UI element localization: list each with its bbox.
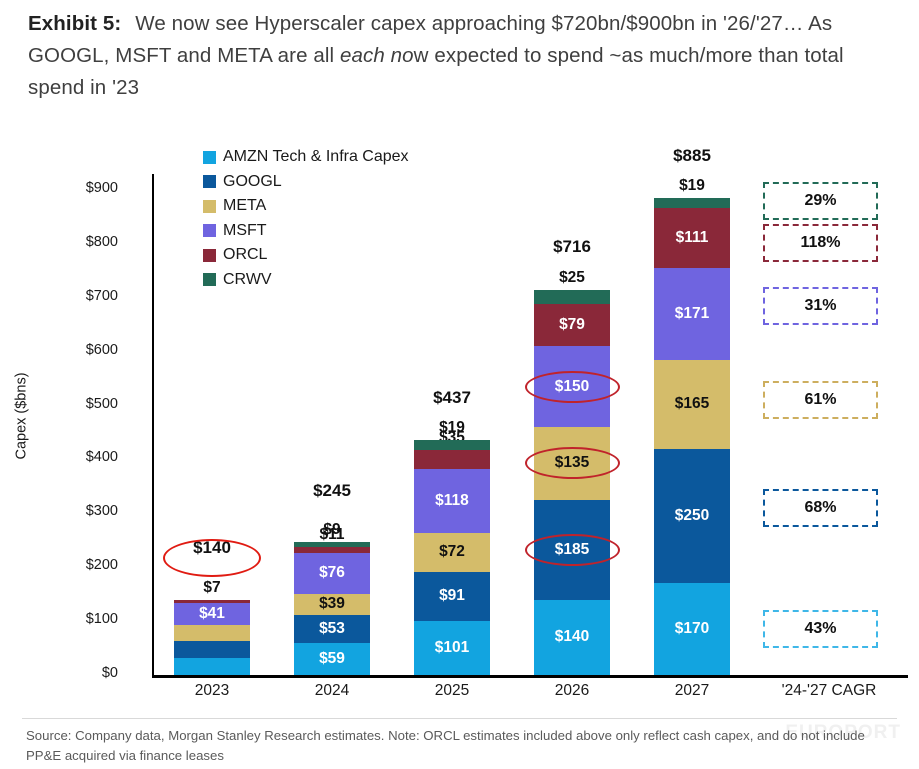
bar-segment-2026-MSFT: $150 bbox=[534, 346, 610, 427]
segment-value-label: $91 bbox=[439, 587, 465, 605]
x-axis-label-2024: 2024 bbox=[272, 682, 392, 700]
legend-swatch-icon bbox=[203, 224, 216, 237]
legend-swatch-icon bbox=[203, 175, 216, 188]
x-axis-line bbox=[152, 675, 908, 678]
bar-segment-2023-GOOGL bbox=[174, 641, 250, 658]
y-tick-label: $700 bbox=[52, 288, 118, 304]
cagr-value: 118% bbox=[800, 234, 840, 252]
y-tick-label: $100 bbox=[52, 611, 118, 627]
bar-segment-2024-ORCL bbox=[294, 547, 370, 553]
bar-segment-2027-AMZN: $170 bbox=[654, 583, 730, 675]
bar-segment-2027-META: $165 bbox=[654, 360, 730, 449]
bar-segment-2027-CRWV bbox=[654, 198, 730, 208]
segment-value-label-outside: $7 bbox=[203, 579, 220, 597]
cagr-box-meta: 61% bbox=[763, 381, 878, 419]
bar-segment-2027-ORCL: $111 bbox=[654, 208, 730, 268]
segment-value-label: $171 bbox=[675, 305, 709, 323]
segment-value-label: $59 bbox=[319, 650, 345, 668]
x-axis-label-2023: 2023 bbox=[152, 682, 272, 700]
legend-item-crwv[interactable]: CRWV bbox=[203, 268, 409, 293]
segment-value-label: $150 bbox=[555, 378, 589, 396]
legend-label: AMZN Tech & Infra Capex bbox=[223, 148, 409, 166]
y-tick-label: $600 bbox=[52, 342, 118, 358]
bar-segment-2024-AMZN: $59 bbox=[294, 643, 370, 675]
segment-value-label: $185 bbox=[555, 541, 589, 559]
legend-item-orcl[interactable]: ORCL bbox=[203, 243, 409, 268]
bar-total-label-2023: $140 bbox=[193, 538, 231, 558]
cagr-box-orcl: 118% bbox=[763, 224, 878, 262]
x-axis-label-2027: 2027 bbox=[632, 682, 752, 700]
segment-value-label: $53 bbox=[319, 620, 345, 638]
bar-segment-2026-ORCL: $79 bbox=[534, 304, 610, 347]
bar-segment-2027-MSFT: $171 bbox=[654, 268, 730, 360]
bar-total-label-2025: $437 bbox=[433, 388, 471, 408]
segment-value-label: $165 bbox=[675, 395, 709, 413]
legend-item-msft[interactable]: MSFT bbox=[203, 219, 409, 244]
legend-swatch-icon bbox=[203, 200, 216, 213]
bar-segment-2024-META: $39 bbox=[294, 594, 370, 615]
cagr-value: 61% bbox=[804, 391, 836, 409]
bar-total-label-2027: $885 bbox=[673, 146, 711, 166]
bar-segment-2025-AMZN: $101 bbox=[414, 621, 490, 675]
segment-value-label: $140 bbox=[555, 628, 589, 646]
y-tick-label: $0 bbox=[52, 665, 118, 681]
segment-value-label-outside: $9 bbox=[323, 521, 340, 539]
segment-value-label: $76 bbox=[319, 564, 345, 582]
legend-swatch-icon bbox=[203, 249, 216, 262]
bar-total-label-2024: $245 bbox=[313, 481, 351, 501]
legend-swatch-icon bbox=[203, 151, 216, 164]
segment-value-label: $72 bbox=[439, 543, 465, 561]
bar-segment-2024-GOOGL: $53 bbox=[294, 615, 370, 644]
y-tick-label: $300 bbox=[52, 503, 118, 519]
bar-segment-2023-MSFT: $41 bbox=[174, 603, 250, 625]
cagr-box-googl: 68% bbox=[763, 489, 878, 527]
segment-value-label: $250 bbox=[675, 507, 709, 525]
segment-value-label: $39 bbox=[319, 595, 345, 613]
cagr-value: 68% bbox=[804, 499, 836, 517]
cagr-box-msft: 31% bbox=[763, 287, 878, 325]
bar-segment-2023-ORCL bbox=[174, 600, 250, 604]
bar-segment-2027-GOOGL: $250 bbox=[654, 449, 730, 584]
y-axis-title: Capex ($bns) bbox=[14, 372, 30, 459]
bar-total-label-2026: $716 bbox=[553, 237, 591, 257]
x-axis-label-2026: 2026 bbox=[512, 682, 632, 700]
bar-segment-2024-CRWV bbox=[294, 542, 370, 547]
y-tick-label: $800 bbox=[52, 234, 118, 250]
bar-segment-2024-MSFT: $76 bbox=[294, 553, 370, 594]
segment-value-label: $135 bbox=[555, 454, 589, 472]
y-axis-ticks: $0$100$200$300$400$500$600$700$800$900 bbox=[52, 0, 118, 769]
y-tick-label: $400 bbox=[52, 449, 118, 465]
legend-label: CRWV bbox=[223, 271, 272, 289]
bar-segment-2025-MSFT: $118 bbox=[414, 469, 490, 533]
cagr-box-crwv: 29% bbox=[763, 182, 878, 220]
segment-value-label: $79 bbox=[559, 316, 585, 334]
legend-swatch-icon bbox=[203, 273, 216, 286]
bar-segment-2025-CRWV bbox=[414, 440, 490, 450]
source-divider bbox=[22, 718, 897, 719]
segment-value-label: $101 bbox=[435, 639, 469, 657]
segment-value-label: $111 bbox=[676, 229, 709, 247]
legend-label: MSFT bbox=[223, 222, 267, 240]
chart-legend: AMZN Tech & Infra CapexGOOGLMETAMSFTORCL… bbox=[203, 145, 409, 292]
bar-segment-2023-AMZN bbox=[174, 658, 250, 675]
bar-segment-2026-META: $135 bbox=[534, 427, 610, 500]
bar-segment-2026-GOOGL: $185 bbox=[534, 500, 610, 600]
segment-value-label-outside: $19 bbox=[679, 177, 705, 195]
bar-segment-2025-META: $72 bbox=[414, 533, 490, 572]
segment-value-label-outside: $25 bbox=[559, 269, 585, 287]
cagr-value: 31% bbox=[804, 297, 836, 315]
legend-item-amzn[interactable]: AMZN Tech & Infra Capex bbox=[203, 145, 409, 170]
legend-label: GOOGL bbox=[223, 173, 282, 191]
segment-value-label: $118 bbox=[435, 492, 469, 510]
bar-segment-2026-AMZN: $140 bbox=[534, 600, 610, 675]
bar-segment-2025-GOOGL: $91 bbox=[414, 572, 490, 621]
chart-canvas: Capex ($bns) $0$100$200$300$400$500$600$… bbox=[0, 0, 919, 769]
legend-label: ORCL bbox=[223, 246, 267, 264]
segment-value-label: $41 bbox=[199, 605, 225, 623]
chart-page: Exhibit 5:We now see Hyperscaler capex a… bbox=[0, 0, 919, 769]
bar-segment-2025-ORCL bbox=[414, 450, 490, 469]
y-tick-label: $200 bbox=[52, 557, 118, 573]
legend-item-meta[interactable]: META bbox=[203, 194, 409, 219]
legend-item-googl[interactable]: GOOGL bbox=[203, 170, 409, 195]
y-tick-label: $500 bbox=[52, 396, 118, 412]
bar-segment-2026-CRWV bbox=[534, 290, 610, 303]
cagr-box-amzn: 43% bbox=[763, 610, 878, 648]
segment-value-label-outside: $19 bbox=[439, 419, 465, 437]
source-note: Source: Company data, Morgan Stanley Res… bbox=[26, 726, 898, 766]
bar-segment-2023-META bbox=[174, 625, 250, 640]
x-axis-label-cagr: '24-'27 CAGR bbox=[754, 682, 904, 700]
segment-value-label: $170 bbox=[675, 620, 709, 638]
x-axis-label-2025: 2025 bbox=[392, 682, 512, 700]
cagr-value: 43% bbox=[804, 620, 836, 638]
legend-label: META bbox=[223, 197, 266, 215]
y-tick-label: $900 bbox=[52, 180, 118, 196]
cagr-value: 29% bbox=[804, 192, 836, 210]
